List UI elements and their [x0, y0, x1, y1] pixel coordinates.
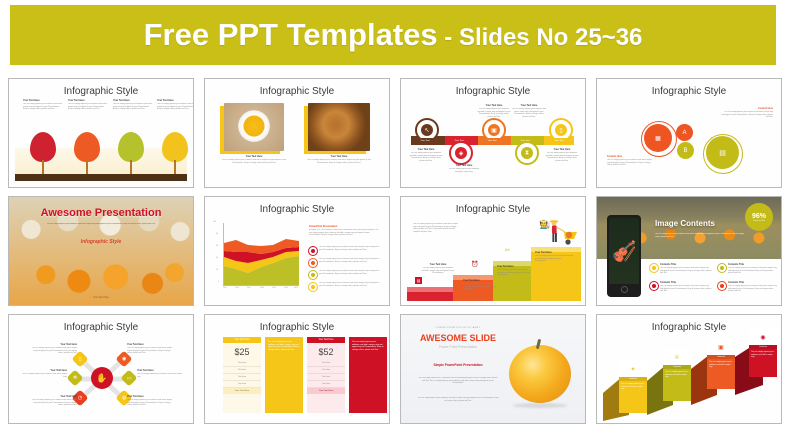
y-tick: 40 [216, 257, 218, 259]
grid-icon: ▦ [655, 135, 661, 142]
tree-4 [159, 132, 191, 174]
text-body: You can simply impress your audience and… [113, 103, 153, 111]
caption-body: You can simply impress your audience and… [219, 159, 289, 164]
caption-body: You can simply impress your audience and… [304, 159, 374, 164]
stairs-text-1: Your Text Here You can simply impress yo… [421, 263, 455, 275]
text-heading: Your Text Here [511, 104, 547, 107]
pricing-value: $52 [307, 343, 345, 360]
timeline-text-2: Your Text Here You can simply impress yo… [447, 164, 481, 173]
tree-trunk [86, 160, 88, 174]
x-tick: 2017 [247, 287, 251, 289]
text-body: You can simply impress your audience and… [29, 399, 77, 407]
bullet-icon-3 [308, 270, 318, 280]
text-body: You can simply impress your audience and… [607, 159, 653, 167]
text-heading: Your Text Here [127, 395, 175, 398]
pricing-row: Text here [223, 367, 261, 374]
side-body: Example Text : Get a modern PowerPoint P… [309, 229, 381, 237]
block-card-1[interactable]: ✦ Contents You can simply impress your a… [619, 361, 647, 413]
badge-value: 96% [752, 213, 766, 220]
pricing-row: Text here [223, 360, 261, 367]
pricing-body: You can simply impress your audience and… [265, 337, 303, 355]
phone-screen: 🎻 [609, 218, 639, 284]
slide-6-title: Infographic Style [205, 204, 389, 215]
slide-4-title: Infographic Style [597, 86, 781, 97]
alarm-icon: ⏰ [471, 261, 478, 268]
x-tick: 2021 [294, 287, 298, 289]
text-body: You can simply impress your audience and… [477, 108, 511, 118]
block-card-4[interactable]: ◉ Contents You can simply impress your a… [749, 329, 777, 377]
circle-letter-b[interactable]: B [677, 142, 694, 159]
tree-1 [27, 132, 59, 174]
slide-4-text-right: Content Here You can simply impress your… [721, 107, 773, 119]
timeline-circle-2[interactable]: ◈ [449, 141, 473, 165]
tree-crown-icon [30, 132, 56, 162]
banner-title-sub: - Slides No 25~36 [438, 24, 643, 51]
hub-text-1: Your Text Here You can simply impress yo… [29, 343, 77, 355]
calendar-icon: ▤ [415, 277, 422, 284]
phone-mockup: 🎻 [607, 215, 641, 297]
slide-1-text-block-2: Your Text Here You can simply impress yo… [68, 99, 108, 111]
pricing-row: Text here [223, 381, 261, 388]
cart-icon: ▣ [488, 124, 500, 136]
x-tick: 2016 [235, 287, 239, 289]
clock-icon: ◷ [78, 395, 82, 401]
text-heading: Your Text Here [477, 104, 511, 107]
slide-11-title: AWESOME SLIDE [415, 333, 501, 343]
bullet-icon-2 [308, 258, 318, 268]
chart-side-text: PowerPoint Presentation Example Text : G… [309, 225, 381, 237]
megaphone-icon: ◉ [749, 329, 777, 345]
pricing-row: Text here [307, 374, 345, 381]
slide-1-text-block-3: Your Text Here You can simply impress yo… [113, 99, 153, 111]
content-heading: Contents Title [728, 263, 778, 266]
slide-thumbnail-11[interactable]: LOREM IPSUM DOLOR SIT AMET AWESOME SLIDE… [400, 314, 586, 424]
text-body: You can simply impress your audience and… [127, 347, 175, 355]
slide-7-title: Infographic Style [401, 204, 585, 215]
pricing-row: Text here [223, 374, 261, 381]
content-body: You can simply impress your audience and… [728, 285, 778, 293]
slide-10-title: Infographic Style [205, 322, 389, 333]
text-heading: Your Text Here [447, 164, 481, 167]
text-body: You can simply impress your audience and… [463, 283, 497, 291]
text-heading: Your Text Here [113, 99, 153, 102]
cart-icon: ▣ [707, 339, 735, 355]
slide-11-subtitle: Power Point Presentation [415, 345, 501, 349]
text-heading: Your Text Here [29, 395, 77, 398]
slide-thumbnail-3[interactable]: Infographic Style ↖ ◈ ▣ ⧗ ▯ Your Text Yo… [400, 78, 586, 188]
photo-soup [224, 103, 284, 151]
hub-text-3: Your Text Here You can simply impress yo… [19, 369, 67, 378]
cover-title: Awesome Presentation [9, 207, 193, 219]
pumpkin-shadow [513, 403, 567, 408]
photo-caption-1: Your Text Here You can simply impress yo… [219, 155, 289, 164]
pricing-body: You can simply impress your audience and… [349, 337, 387, 355]
slide-thumbnail-12[interactable]: Infographic Style ✦ Contents You can sim… [596, 314, 782, 424]
slide-1-text-block-1: Your Text Here You can simply impress yo… [23, 99, 63, 111]
text-heading: Your Text Here [137, 369, 185, 372]
hub-center[interactable]: ✋ [91, 367, 113, 389]
hourglass-icon: ⧗ [521, 147, 533, 159]
text-heading: Content Here [607, 155, 653, 158]
text-heading: Your Text Here [545, 148, 579, 151]
pumpkin-photo [509, 345, 571, 403]
pricing-value: $25 [223, 343, 261, 360]
slide-8-subtext: You can simply impress your audience and… [655, 233, 745, 238]
text-heading: Your Text Here [29, 343, 77, 346]
text-heading: Your Text Here [463, 279, 497, 282]
text-heading: Your Text Here [68, 99, 108, 102]
block-text: You can simply impress your audience and… [619, 381, 647, 393]
text-body: You can simply impress your audience and… [19, 373, 67, 378]
slide-11-heading: Simple PowerPoint Presentation [423, 363, 493, 367]
slide-thumbnail-2[interactable]: Infographic Style Your Text Here You can… [204, 78, 390, 188]
text-body: You can simply impress your audience and… [127, 399, 175, 407]
caption-heading: Your Text Here [304, 155, 374, 158]
tree-crown-icon [162, 132, 188, 162]
violin-icon: 🎻 [612, 239, 637, 264]
bullet-text-3: You can simply impress your audience and… [319, 270, 381, 275]
content-item-4: Contents Title You can simply impress yo… [728, 281, 778, 293]
y-tick: 20 [216, 269, 218, 271]
cover-subtitle: Infographic Style [9, 239, 193, 245]
content-item-3: Contents Title You can simply impress yo… [660, 281, 712, 293]
tree-crown-icon [118, 132, 144, 162]
circle-orange[interactable]: ▦ [644, 124, 672, 152]
cover-footer: Your Text Here [9, 296, 193, 299]
bullet-text-2: You can simply impress your audience and… [319, 258, 381, 263]
bullet-icon-1 [308, 246, 318, 256]
farmer-illustration [541, 219, 579, 249]
pin-icon: ◍ [122, 395, 126, 401]
content-body: You can simply impress your audience and… [660, 267, 712, 275]
text-body: You can simply impress your audience and… [29, 347, 77, 355]
timeline-label-2: Your Text [448, 138, 470, 143]
gear-icon: ✲ [73, 375, 77, 381]
lock-icon: ▯ [555, 124, 567, 136]
side-heading: PowerPoint Presentation [309, 225, 381, 228]
pricing-row: Text here [307, 360, 345, 367]
slide-1-title: Infographic Style [9, 86, 193, 97]
pricing-column-1[interactable]: Your Text Here $25 Text here Text here T… [223, 337, 261, 413]
letter-a-label: A [682, 130, 686, 136]
text-body: You can simply impress your audience and… [421, 267, 455, 275]
text-heading: Your Text Here [127, 343, 175, 346]
timeline-label-5: Your Text [548, 138, 570, 143]
slide-11-eyebrow: LOREM IPSUM DOLOR SIT AMET [415, 327, 501, 329]
text-heading: Your Text Here [421, 263, 455, 266]
block-text: You can simply impress your audience and… [749, 349, 777, 361]
pricing-row: Text here [307, 367, 345, 374]
bullet-text-4: You can simply impress your audience and… [319, 282, 381, 287]
bullet-text-1: You can simply impress your audience and… [319, 246, 381, 251]
hub-text-4: Your Text Here You can simply impress yo… [137, 369, 185, 378]
text-body: You can simply impress your audience and… [137, 373, 185, 378]
badge-label: Contents Title [753, 220, 765, 222]
slide-4-text-left: Content Here You can simply impress your… [607, 155, 653, 167]
timeline-text-4: Your Text Here You can simply impress yo… [511, 104, 547, 118]
text-body: You can simply impress your audience and… [545, 152, 579, 162]
header-banner: Free PPT Templates - Slides No 25~36 [10, 5, 776, 65]
text-heading: Your Text Here [535, 251, 573, 254]
stairs-text-4: Your Text Here You can simply impress yo… [535, 251, 573, 263]
banner-title: Free PPT Templates - Slides No 25~36 [144, 17, 643, 53]
text-body: You can simply impress your audience and… [23, 103, 63, 111]
text-body: You can simply impress your audience and… [409, 152, 443, 162]
text-body: You can simply impress your audience and… [157, 103, 194, 111]
text-body: You can simply impress your audience and… [721, 111, 773, 119]
content-item-1: Contents Title You can simply impress yo… [660, 263, 712, 275]
content-item-2: Contents Title You can simply impress yo… [728, 263, 778, 275]
content-icon-4 [717, 281, 727, 291]
text-body: You can simply impress your audience and… [535, 255, 573, 263]
content-heading: Contents Title [728, 281, 778, 284]
content-icon-2 [717, 263, 727, 273]
content-heading: Contents Title [660, 263, 712, 266]
cover-body: You can simply impress your audience and… [31, 223, 171, 226]
content-body: You can simply impress your audience and… [660, 285, 712, 293]
slide-thumbnail-8[interactable]: Image Contents You can simply impress yo… [596, 196, 782, 306]
x-tick: 2018 [260, 287, 264, 289]
slide-thumbnail-5[interactable]: Awesome Presentation You can simply impr… [8, 196, 194, 306]
slide-thumbnail-6[interactable]: Infographic Style 100 80 60 40 20 0 2015… [204, 196, 390, 306]
content-icon-1 [649, 263, 659, 273]
slide-3-title: Infographic Style [401, 86, 585, 97]
content-body: You can simply impress your audience and… [728, 267, 778, 275]
area-chart-plot [224, 223, 300, 285]
pricing-foot[interactable]: Your Text Here [223, 388, 261, 394]
banner-title-main: Free PPT Templates [144, 17, 438, 52]
caption-heading: Your Text Here [219, 155, 289, 158]
bullet-icon-4 [308, 282, 318, 292]
circle-letter-a[interactable]: A [676, 124, 693, 141]
x-tick: 2020 [284, 287, 288, 289]
timeline-text-1: Your Text Here You can simply impress yo… [409, 148, 443, 162]
block-card-3[interactable]: ▣ Contents You can simply impress your a… [707, 339, 735, 389]
x-tick: 2015 [223, 287, 227, 289]
tree-3 [115, 132, 147, 174]
bulb-icon: ◉ [122, 356, 126, 362]
y-tick: 100 [213, 221, 216, 223]
tree-trunk [42, 160, 44, 174]
tree-trunk [130, 160, 132, 174]
slide-thumbnail-1[interactable]: Infographic Style Your Text Here You can… [8, 78, 194, 188]
slide-1-text-block-4: Your Text Here You can simply impress yo… [157, 99, 194, 111]
slide-thumbnail-7[interactable]: Infographic Style You can simply impress… [400, 196, 586, 306]
scissors-icon: ✄ [505, 247, 510, 254]
slide-9-title: Infographic Style [9, 322, 193, 333]
chat-icon: ▭ [127, 375, 132, 381]
y-tick: 80 [216, 233, 218, 235]
slide-2-title: Infographic Style [205, 86, 389, 97]
text-body: You can simply impress your audience and… [447, 168, 481, 173]
text-body: You can simply impress your audience and… [68, 103, 108, 111]
slide-11-body-2: You can simply impress your audience and… [417, 397, 499, 402]
y-tick: 60 [216, 245, 218, 247]
stairs-text-3: Your Text Here You can simply impress yo… [497, 265, 531, 277]
timeline-label-4: Your Text [514, 138, 536, 143]
tree-trunk [174, 160, 176, 174]
stairs-text-2: Your Text Here You can simply impress yo… [463, 279, 497, 291]
slide-8-title: Image Contents [655, 219, 715, 228]
pricing-column-4[interactable]: You can simply impress your audience and… [349, 337, 387, 413]
text-heading: Your Text Here [409, 148, 443, 151]
timeline-circle-4[interactable]: ⧗ [515, 141, 539, 165]
text-heading: Content Here [721, 107, 773, 110]
puzzle-icon: ✦ [619, 361, 647, 377]
lock-icon: ▯ [79, 356, 82, 362]
hub-text-2: Your Text Here You can simply impress yo… [127, 343, 175, 355]
home-button[interactable] [621, 286, 628, 293]
book-icon: ▤ [719, 149, 726, 157]
slide-thumbnail-4[interactable]: Infographic Style ▦ ▤ A B Content Here Y… [596, 78, 782, 188]
text-heading: Your Text Here [157, 99, 194, 102]
block-card-2[interactable]: ♕ Contents You can simply impress your a… [663, 349, 691, 401]
text-heading: Your Text Here [497, 265, 531, 268]
pricing-foot[interactable]: Your Text Here [307, 388, 345, 394]
hub-text-6: Your Text Here You can simply impress yo… [127, 395, 175, 407]
hub-text-5: Your Text Here You can simply impress yo… [29, 395, 77, 407]
x-tick: 2019 [272, 287, 276, 289]
pricing-row: Text here [307, 381, 345, 388]
templates-gallery-page: Free PPT Templates - Slides No 25~36 Inf… [0, 0, 786, 423]
content-heading: Contents Title [660, 281, 712, 284]
slides-grid: Infographic Style Your Text Here You can… [8, 78, 778, 418]
slide-thumbnail-10[interactable]: Infographic Style Your Text Here $25 Tex… [204, 314, 390, 424]
letter-b-label: B [683, 148, 687, 154]
timeline-text-3: Your Text Here You can simply impress yo… [477, 104, 511, 118]
photo-roast [308, 103, 370, 151]
ground-strip [15, 174, 187, 181]
pricing-column-2[interactable]: You can simply impress your audience and… [265, 337, 303, 413]
slide-thumbnail-9[interactable]: Infographic Style ✋ ▯ ◉ ✲ ▭ ◷ ◍ Your Tex… [8, 314, 194, 424]
photo-caption-2: Your Text Here You can simply impress yo… [304, 155, 374, 164]
text-heading: Your Text Here [19, 369, 67, 372]
stairs-intro: You can simply impress your audience and… [413, 223, 461, 233]
content-icon-3 [649, 281, 659, 291]
timeline-text-5: Your Text Here You can simply impress yo… [545, 148, 579, 162]
timeline-label-1: Your Text [414, 138, 436, 143]
text-heading: Your Text Here [23, 99, 63, 102]
trophy-icon: ♕ [663, 349, 691, 365]
block-text: You can simply impress your audience and… [707, 359, 735, 371]
pricing-column-3[interactable]: Your Text Here $52 Text here Text here T… [307, 337, 345, 413]
tag-icon: ◈ [455, 147, 467, 159]
text-body: You can simply impress your audience and… [497, 269, 531, 277]
y-tick: 0 [218, 281, 219, 283]
hand-icon: ✋ [96, 373, 107, 384]
slide-11-body-1: You can simply PowerPoint Presentation t… [417, 377, 499, 385]
text-body: You can simply impress your audience and… [511, 108, 547, 118]
chart-x-axis [223, 285, 299, 286]
percentage-badge: 96% Contents Title [745, 203, 773, 231]
block-text: You can simply impress your audience and… [663, 369, 691, 381]
timeline-label-3: Your Text [481, 138, 503, 143]
circle-olive[interactable]: ▤ [706, 136, 739, 169]
tree-2 [71, 132, 103, 174]
tree-crown-icon [74, 132, 100, 162]
cursor-icon: ↖ [421, 124, 433, 136]
